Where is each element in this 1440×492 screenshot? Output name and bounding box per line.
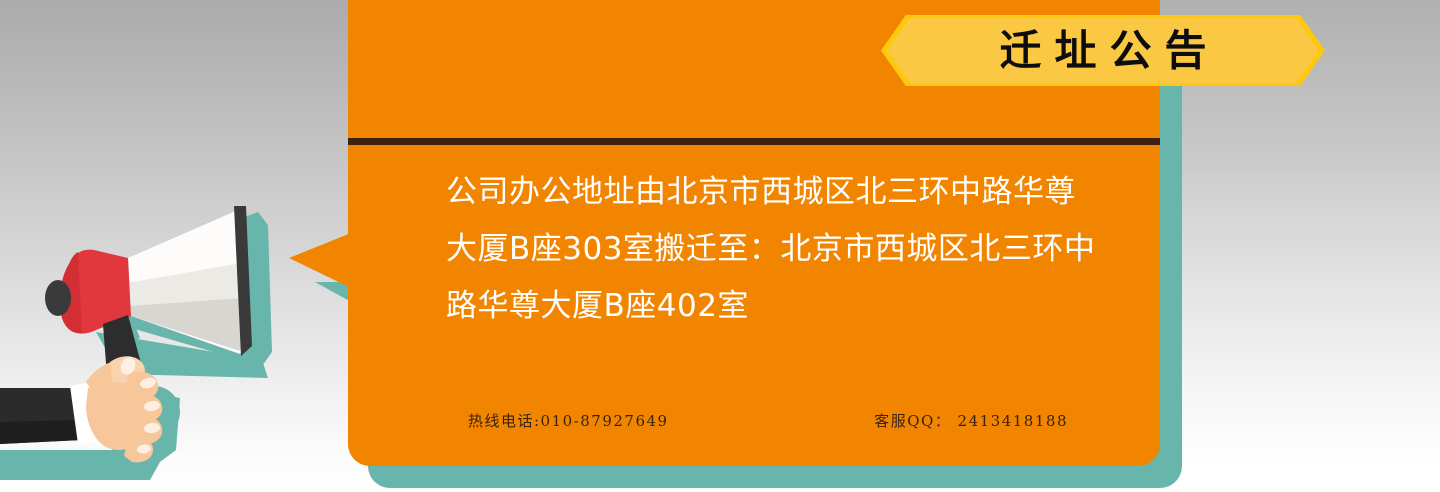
announcement-body: 公司办公地址由北京市西城区北三环中路华尊大厦B座303室搬迁至：北京市西城区北三… — [446, 164, 1106, 335]
announcement-banner-image: 迁址公告 公司办公地址由北京市西城区北三环中路华尊大厦B座303室搬迁至：北京市… — [0, 0, 1440, 492]
arm-sleeve — [0, 382, 100, 444]
hotline-text: 热线电话:010-87927649 — [468, 410, 669, 431]
megaphone-cone — [127, 210, 248, 354]
qq-text: 客服QQ： 2413418188 — [874, 410, 1068, 431]
header-divider — [348, 138, 1160, 145]
announcement-card: 迁址公告 公司办公地址由北京市西城区北三环中路华尊大厦B座303室搬迁至：北京市… — [348, 0, 1160, 466]
page-title: 迁址公告 — [881, 15, 1325, 86]
megaphone-illustration — [0, 150, 360, 492]
title-banner: 迁址公告 — [881, 15, 1325, 86]
speech-bubble-tail — [289, 233, 351, 288]
megaphone-knob — [45, 280, 71, 316]
contact-footer: 热线电话:010-87927649 客服QQ： 2413418188 — [468, 410, 1068, 431]
